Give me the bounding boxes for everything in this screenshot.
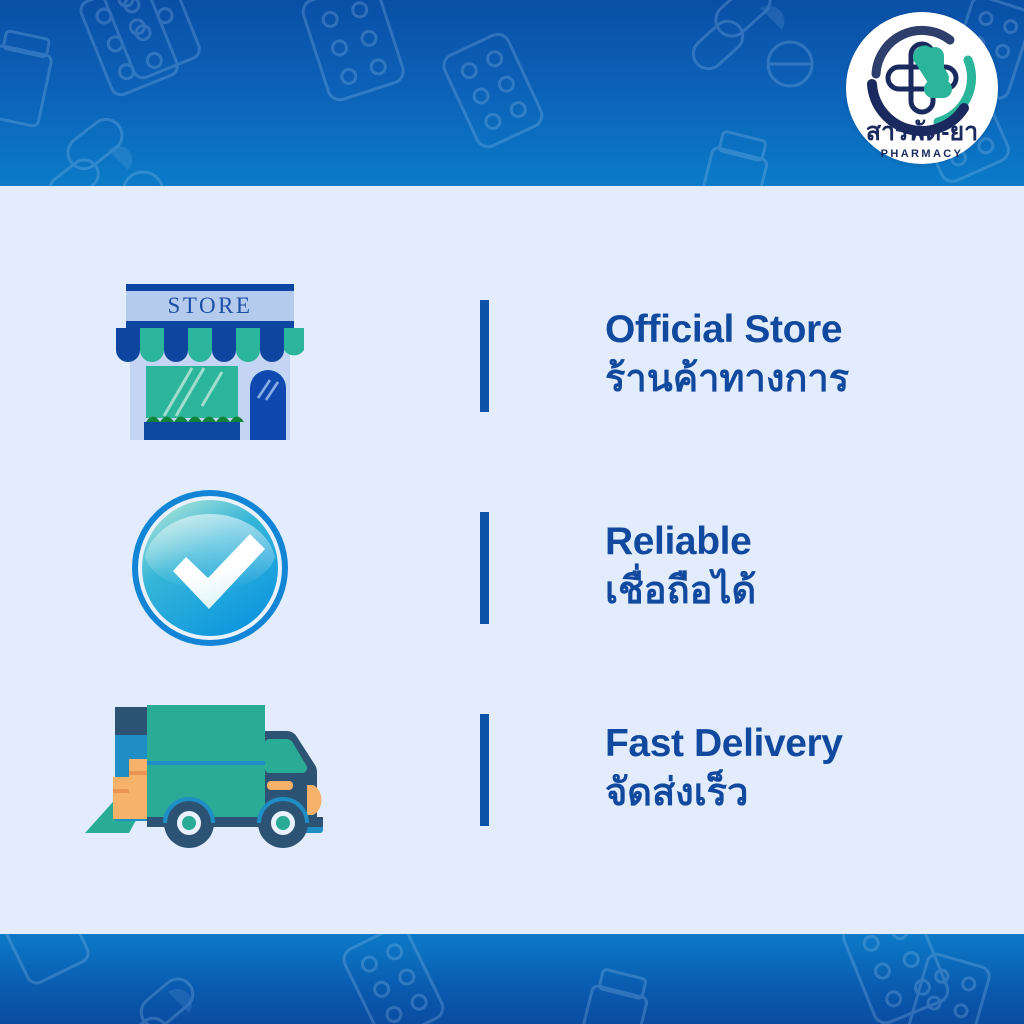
feature-title-en: Reliable — [605, 520, 756, 564]
row-divider — [480, 512, 489, 624]
feature-row-official-store: STORE — [0, 256, 1024, 456]
pharmacy-items-pattern-icon — [0, 934, 1024, 1024]
storefront-icon: STORE — [0, 256, 420, 456]
feature-row-reliable: Reliable เชื่อถือได้ — [0, 468, 1024, 668]
row-divider — [480, 714, 489, 826]
footer-band — [0, 934, 1024, 1024]
logo-name-th: สารพัด-ยา — [866, 118, 978, 146]
check-circle-icon — [0, 468, 420, 668]
feature-title-th: เชื่อถือได้ — [605, 567, 756, 616]
promo-banner-canvas: สารพัด-ยา PHARMACY STORE — [0, 0, 1024, 1024]
feature-row-fast-delivery: Fast Delivery จัดส่งเร็ว — [0, 670, 1024, 870]
store-sign-text: STORE — [168, 293, 253, 318]
feature-title-th: ร้านค้าทางการ — [605, 355, 849, 404]
delivery-truck-icon — [0, 670, 420, 870]
row-divider — [480, 300, 489, 412]
feature-text-block: Official Store ร้านค้าทางการ — [605, 308, 849, 403]
feature-title-en: Official Store — [605, 308, 849, 352]
feature-title-th: จัดส่งเร็ว — [605, 769, 843, 818]
feature-text-block: Reliable เชื่อถือได้ — [605, 520, 756, 615]
feature-title-en: Fast Delivery — [605, 722, 843, 766]
brand-logo[interactable]: สารพัด-ยา PHARMACY — [846, 12, 998, 164]
logo-name-en: PHARMACY — [881, 148, 964, 160]
feature-text-block: Fast Delivery จัดส่งเร็ว — [605, 722, 843, 817]
